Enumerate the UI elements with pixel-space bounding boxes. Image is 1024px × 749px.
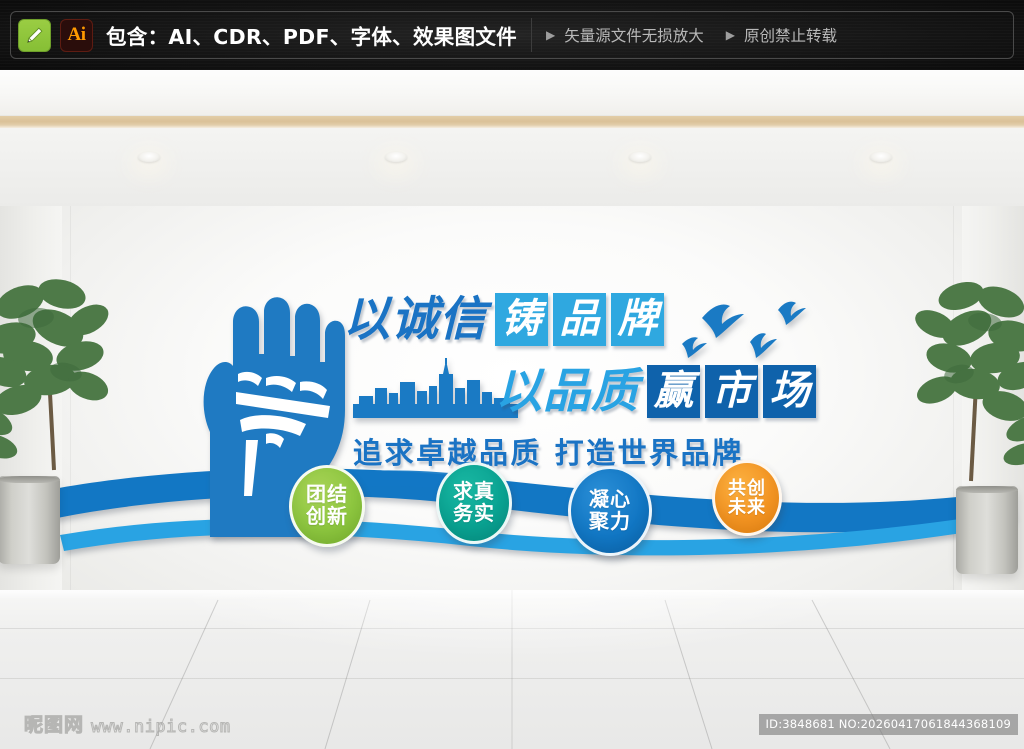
badge-4-line-2: 未来: [728, 498, 766, 517]
headline1-char-5: 品: [553, 293, 606, 346]
headline1-char-6: 牌: [611, 293, 664, 346]
downlight-2: [385, 152, 407, 162]
badge-2-line-1: 求真: [453, 481, 495, 503]
badge-1-line-2: 创新: [306, 506, 348, 528]
ceiling-slab: [0, 70, 1024, 116]
badge-unity-innovation: 团结 创新: [289, 465, 365, 547]
badge-cohesion-strength: 凝心 聚力: [568, 466, 652, 556]
pencil-glyph: [24, 24, 46, 46]
badge-3-line-2: 聚力: [589, 511, 631, 533]
headline2-boxed-group: 赢 市 场: [647, 365, 816, 418]
headline2-char-4: 赢: [647, 365, 700, 418]
headline2-char-3: 质: [591, 368, 639, 415]
room-scene: 以 诚 信 铸 品 牌 以 品 质 赢 市 场: [0, 70, 1024, 749]
potted-fiddle-leaf-fig-left: [0, 260, 112, 620]
ceiling-soffit: [0, 128, 1024, 206]
headline1-char-1: 以: [343, 296, 391, 343]
headline-line-2: 以 品 质 赢 市 场: [495, 362, 816, 420]
id-tag: ID:3848681 NO:20260417061844368109: [759, 714, 1018, 735]
headline2-char-2: 品: [543, 368, 591, 415]
triangle-icon: ▶: [726, 28, 735, 42]
artwork-subline: 追求卓越品质 打造世界品牌: [353, 430, 913, 472]
badge-create-future: 共创 未来: [712, 460, 782, 536]
headline1-char-3: 信: [439, 296, 487, 343]
promo-note-vector: ▶ 矢量源文件无损放大: [546, 24, 704, 46]
potted-fiddle-leaf-fig-right: [910, 266, 1024, 626]
plant-pot-right: [956, 486, 1018, 574]
headline2-char-5: 市: [705, 365, 758, 418]
triangle-icon: ▶: [546, 28, 555, 42]
badge-2-line-2: 务实: [453, 503, 495, 525]
promo-note-copyright-label: 原创禁止转载: [744, 24, 837, 46]
flying-birds-icon: [678, 300, 823, 365]
promo-bar: Ai 包含：AI、CDR、PDF、字体、效果图文件 ▶ 矢量源文件无损放大 ▶ …: [0, 0, 1024, 70]
headline1-boxed-group: 铸 品 牌: [495, 293, 664, 346]
badge-truth-pragmatism: 求真 务实: [436, 462, 512, 544]
pencil-icon: [18, 19, 51, 52]
headline-line-1: 以 诚 信 铸 品 牌: [343, 290, 664, 348]
ceiling-accent-strip: [0, 116, 1024, 128]
promo-bar-frame: Ai 包含：AI、CDR、PDF、字体、效果图文件 ▶ 矢量源文件无损放大 ▶ …: [10, 11, 1014, 59]
plant-pot-left: [0, 476, 60, 564]
promo-note-vector-label: 矢量源文件无损放大: [564, 24, 704, 46]
screenshot-root: Ai 包含：AI、CDR、PDF、字体、效果图文件 ▶ 矢量源文件无损放大 ▶ …: [0, 0, 1024, 749]
badge-4-line-1: 共创: [728, 479, 766, 498]
badge-1-line-1: 团结: [306, 484, 348, 506]
promo-note-copyright: ▶ 原创禁止转载: [726, 24, 837, 46]
badge-3-line-1: 凝心: [589, 489, 631, 511]
downlight-3: [629, 152, 651, 162]
headline1-char-4: 铸: [495, 293, 548, 346]
headline2-char-6: 场: [763, 365, 816, 418]
promo-divider: [531, 18, 532, 52]
downlight-1: [138, 152, 160, 162]
city-skyline-icon: [353, 358, 518, 418]
downlight-4: [870, 152, 892, 162]
headline1-char-2: 诚: [391, 296, 439, 343]
promo-title: 包含：AI、CDR、PDF、字体、效果图文件: [106, 20, 517, 50]
adobe-illustrator-icon: Ai: [60, 19, 93, 52]
headline2-char-1: 以: [495, 368, 543, 415]
wall-graphic: 以 诚 信 铸 品 牌 以 品 质 赢 市 场: [95, 262, 935, 572]
